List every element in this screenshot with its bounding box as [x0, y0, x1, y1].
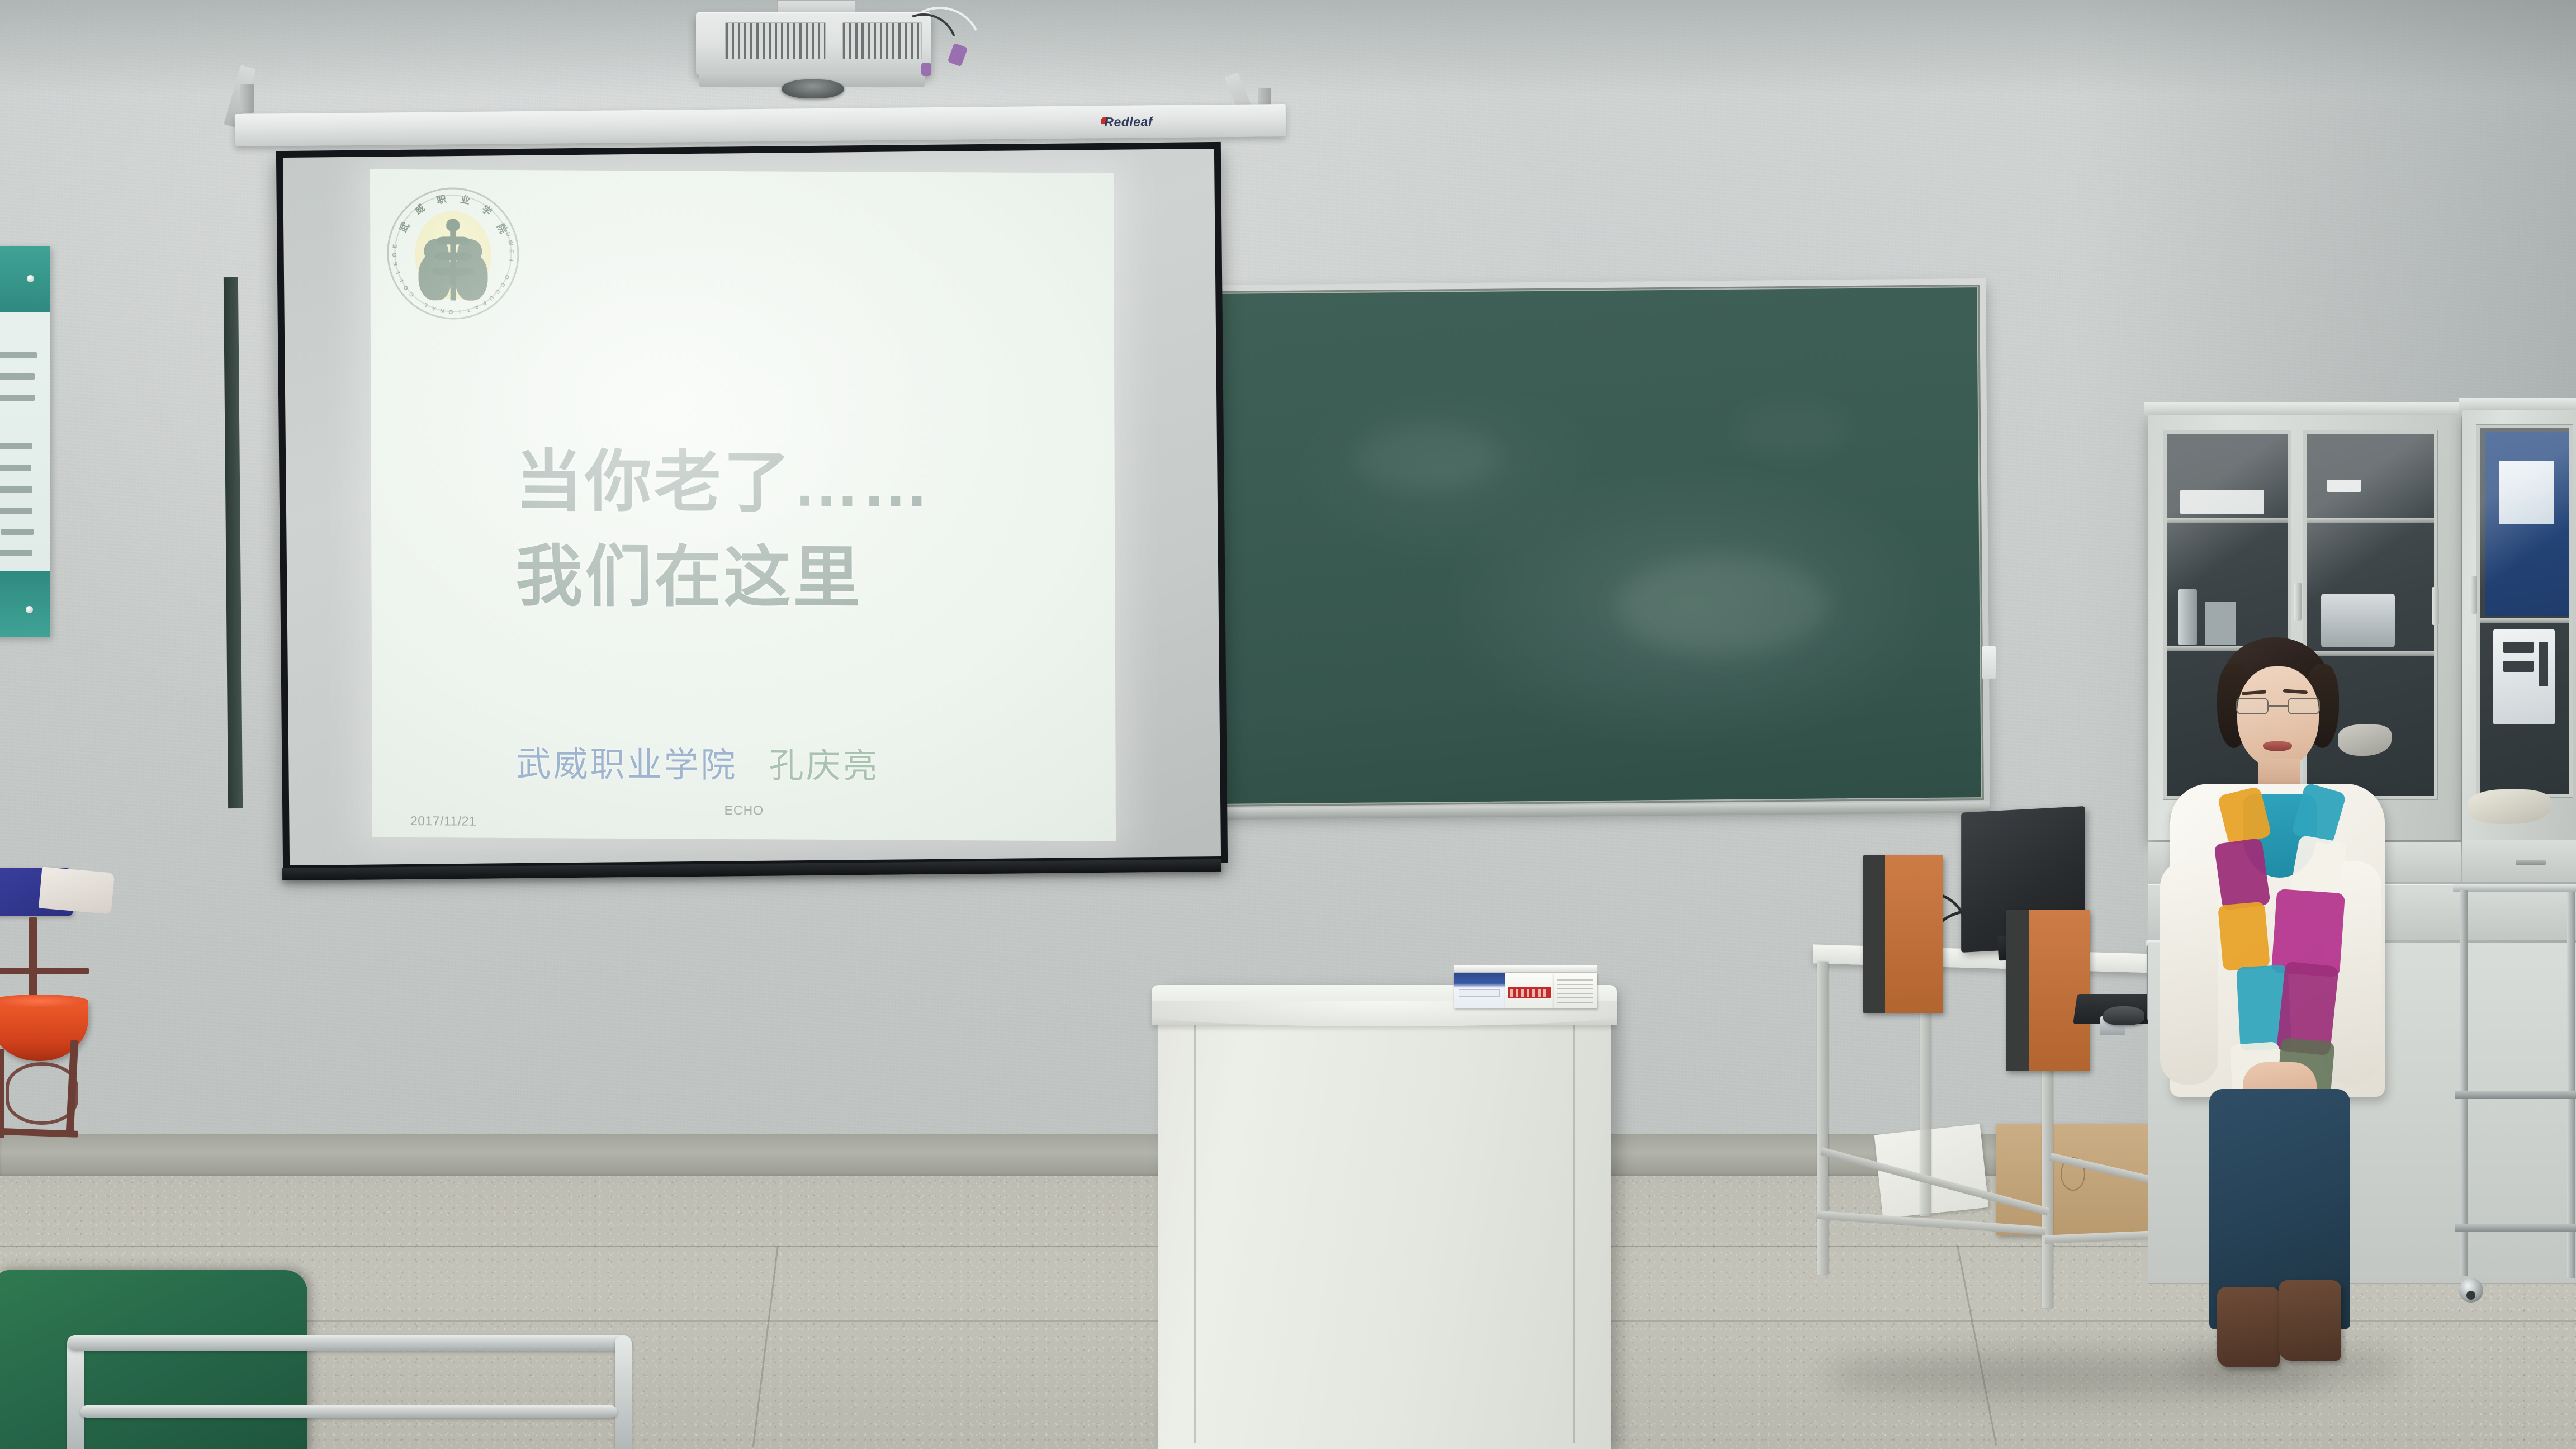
chalk-smudge	[1615, 554, 1829, 656]
presenter-mouth	[2263, 741, 2292, 751]
trolley-post	[2460, 890, 2468, 1276]
computer-mouse[interactable]	[2103, 1006, 2144, 1025]
chalk-smudge	[1736, 400, 1848, 457]
glasses-lens-right	[2288, 698, 2320, 714]
emblem-ring-char: O	[448, 309, 453, 315]
emblem-ring-char: C	[408, 290, 415, 297]
speaker-front-panel	[2029, 910, 2090, 1071]
poster-screw-icon	[26, 606, 33, 613]
presenter-scarf	[2218, 787, 2342, 1100]
presenter-glasses-icon	[2236, 698, 2320, 714]
poster-bottom-band	[0, 571, 50, 637]
bed-rail-mid	[80, 1405, 617, 1418]
bed-rail-post	[67, 1335, 84, 1449]
blue-supply-box	[1454, 973, 1505, 1008]
poster-text-line	[0, 373, 35, 380]
box-label-band	[1459, 989, 1500, 997]
emblem-ring-char: N	[439, 307, 445, 314]
presenter-boot-left	[2217, 1287, 2280, 1367]
cabinet-handle[interactable]	[2470, 576, 2477, 614]
bed-side-rail	[67, 1287, 660, 1449]
projected-slide: 武威职业学院 WUWEI OCCUPATIONAL COLLEGE 2001.6…	[370, 169, 1116, 841]
projector-lens-icon	[782, 79, 844, 98]
cloth-bundle	[2468, 789, 2551, 824]
emblem-ring-char: E	[392, 261, 399, 266]
slide-presenter-name: 孔庆亮	[769, 746, 879, 785]
emblem-ring-char: G	[392, 253, 398, 258]
glass-reflection	[2480, 428, 2569, 794]
poster-text-line	[0, 465, 31, 471]
emblem-ring-char: A	[473, 304, 479, 311]
presenter-face	[2237, 666, 2319, 768]
emblem-ring-char: L	[395, 269, 402, 275]
plain-white-box	[1554, 973, 1597, 1008]
projector-vent-icon	[725, 22, 826, 59]
poster-text-line	[0, 395, 35, 401]
washstand-leg	[0, 1049, 4, 1138]
cable-connector	[921, 63, 931, 76]
projection-screen[interactable]: 武威职业学院 WUWEI OCCUPATIONAL COLLEGE 2001.6…	[276, 142, 1228, 872]
wall-light-switch[interactable]	[1982, 646, 1996, 679]
wall-notice-poster	[0, 246, 50, 637]
scarf-stripe	[2214, 838, 2271, 911]
emblem-ring-char: P	[481, 299, 487, 306]
box-print-lines	[1557, 979, 1593, 1003]
emblem-ring-char: T	[466, 306, 471, 313]
projection-screen-surface: 武威职业学院 WUWEI OCCUPATIONAL COLLEGE 2001.6…	[283, 149, 1221, 865]
emblem-ring-char: C	[494, 288, 501, 295]
trolley-shelf	[2455, 1224, 2576, 1232]
screen-brand-label: Redleaf	[1104, 114, 1153, 130]
emblem-ring-char: O	[402, 284, 410, 291]
emblem-ring-char: I	[508, 259, 514, 262]
slide-date-stamp: 2017/11/21	[410, 813, 477, 829]
emblem-latin-ring-text: WUWEI OCCUPATIONAL COLLEGE	[387, 187, 519, 320]
slide-headline-line1: 当你老了……	[515, 444, 931, 521]
emblem-ring-char: U	[487, 294, 495, 301]
emblem-ring-char: W	[506, 240, 514, 247]
presenter-arm-left	[2160, 861, 2218, 1085]
cabinet-glass-pane	[2476, 425, 2573, 797]
presenter-boot-right	[2279, 1280, 2341, 1361]
emblem-ring-char: W	[500, 222, 508, 230]
classroom-photo-scene: Redleaf	[0, 0, 2576, 1449]
emblem-founded-year: 2001.6.6	[443, 283, 463, 289]
blackboard	[1210, 278, 1990, 813]
slide-subtitle: 武威职业学院孔庆亮	[516, 736, 879, 788]
bed-rail-top	[67, 1335, 632, 1351]
podium-edge-seam	[1573, 1002, 1575, 1443]
poster-text-line	[0, 486, 32, 493]
lecture-podium	[1158, 985, 1611, 1449]
emblem-ring-char: I	[458, 308, 461, 314]
speaker-front-panel	[1885, 855, 1943, 1013]
podium-supply-boxes	[1454, 968, 1597, 1008]
cabinet-handle-right[interactable]	[2432, 587, 2439, 625]
trolley-shelf	[2455, 1091, 2576, 1099]
cabinet-lower-door[interactable]	[2462, 943, 2576, 1284]
trolley-caster	[2459, 1278, 2483, 1303]
scarf-stripe	[2218, 902, 2270, 972]
emblem-ring-char: L	[423, 301, 429, 308]
emblem-ring-char: U	[504, 231, 512, 238]
slide-headline-line2: 我们在这里	[515, 529, 932, 626]
glass-front-supply-cabinet-right[interactable]	[2462, 410, 2576, 840]
cabinet-drawer[interactable]	[2462, 840, 2576, 882]
poster-text-line	[0, 508, 32, 514]
washstand-scrollwork	[6, 1062, 78, 1125]
cabinet-drawer[interactable]	[2462, 884, 2576, 940]
poster-top-band	[0, 246, 50, 312]
glasses-bridge	[2269, 705, 2288, 707]
slide-footer-label: ECHO	[724, 803, 764, 818]
poster-text-line	[0, 352, 37, 358]
college-emblem-icon: 武威职业学院 WUWEI OCCUPATIONAL COLLEGE 2001.6…	[387, 187, 519, 320]
desktop-speaker-left	[1863, 855, 1943, 1013]
chalk-smudge	[1356, 424, 1502, 492]
bed-rail-post	[615, 1335, 632, 1449]
slide-organization: 武威职业学院	[516, 745, 737, 785]
screen-bracket-left	[240, 84, 254, 113]
washstand-crossbar	[0, 968, 89, 974]
emblem-ring-char: E	[392, 244, 399, 249]
poster-text-line	[0, 443, 32, 449]
slide-headline: 当你老了…… 我们在这里	[515, 434, 932, 627]
emblem-ring-char: C	[499, 281, 506, 288]
presenting-instructor	[2158, 637, 2398, 1364]
cabinet-handle-left[interactable]	[2294, 583, 2302, 621]
red-label-box	[1505, 973, 1554, 1008]
scarf-stripe	[2217, 786, 2272, 846]
desktop-speaker-right	[2006, 910, 2090, 1071]
blackboard-surface	[1216, 285, 1984, 807]
podium-edge-seam	[1194, 1002, 1196, 1443]
emblem-ring-char: O	[503, 274, 510, 281]
glasses-lens-left	[2236, 698, 2269, 714]
emblem-ring-char: L	[398, 277, 405, 283]
drawer-pull[interactable]	[2516, 860, 2546, 865]
scarf-stripe	[2291, 782, 2347, 845]
table-leg	[1817, 962, 1828, 1275]
poster-text-line	[0, 550, 32, 556]
medical-trolley-top	[2453, 884, 2576, 892]
emblem-ring-char: E	[508, 249, 514, 254]
white-towel	[39, 866, 115, 914]
poster-text-line	[1, 529, 34, 535]
trolley-post	[2567, 892, 2575, 1278]
box-red-label	[1508, 987, 1551, 998]
emblem-ring-char: A	[430, 305, 437, 312]
poster-screw-icon	[27, 275, 34, 282]
